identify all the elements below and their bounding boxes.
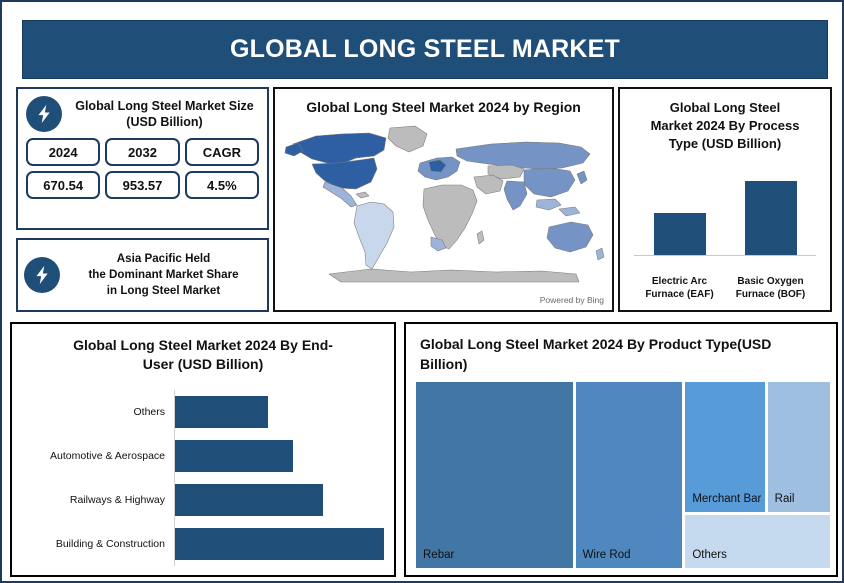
end-user-title-line2: User (USD Billion): [38, 355, 368, 374]
treemap-cell-rail: Rail: [768, 382, 830, 512]
end-user-row-railways: Railways & Highway: [24, 478, 384, 522]
lightning-bolt-icon: [26, 96, 62, 132]
treemap-label-wire-rod: Wire Rod: [576, 549, 631, 568]
end-user-track: [174, 390, 384, 434]
market-size-header-cagr: CAGR: [185, 138, 259, 166]
market-size-value-2024: 670.54: [26, 171, 100, 199]
treemap-row-top: Merchant Bar Rail: [685, 382, 830, 512]
label-eaf-line2: Furnace (EAF): [640, 288, 720, 301]
end-user-label-railways: Railways & Highway: [24, 494, 174, 507]
treemap-label-rebar: Rebar: [416, 549, 454, 568]
apac-callout-panel: Asia Pacific Held the Dominant Market Sh…: [16, 238, 269, 312]
bar-basic-oxygen-furnace: [745, 181, 797, 255]
process-type-title-line1: Global Long Steel: [630, 99, 820, 117]
process-type-panel: Global Long Steel Market 2024 By Process…: [618, 87, 832, 312]
bar-railways-highway: [175, 484, 323, 516]
process-type-axis: [634, 255, 816, 256]
header-banner: GLOBAL LONG STEEL MARKET: [22, 20, 828, 79]
market-size-value-cagr: 4.5%: [185, 171, 259, 199]
apac-callout-text: Asia Pacific Held the Dominant Market Sh…: [66, 251, 261, 299]
label-bof-line1: Basic Oxygen: [731, 275, 811, 288]
product-type-title-line2: Billion): [420, 354, 822, 374]
end-user-title-line1: Global Long Steel Market 2024 By End-: [38, 336, 368, 355]
bar-others: [175, 396, 268, 428]
treemap-cell-wire-rod: Wire Rod: [576, 382, 683, 568]
product-type-title-line1: Global Long Steel Market 2024 By Product…: [420, 334, 822, 354]
treemap-cell-rebar: Rebar: [416, 382, 573, 568]
process-type-title: Global Long Steel Market 2024 By Process…: [620, 89, 830, 153]
apac-line-3: in Long Steel Market: [66, 283, 261, 299]
end-user-title: Global Long Steel Market 2024 By End- Us…: [12, 324, 394, 374]
label-basic-oxygen-furnace: Basic Oxygen Furnace (BOF): [731, 275, 811, 301]
apac-callout-inner: Asia Pacific Held the Dominant Market Sh…: [18, 240, 267, 310]
market-size-header: Global Long Steel Market Size (USD Billi…: [18, 89, 267, 132]
end-user-label-automotive: Automotive & Aerospace: [24, 450, 174, 463]
bar-automotive-aerospace: [175, 440, 293, 472]
apac-line-1: Asia Pacific Held: [66, 251, 261, 267]
end-user-row-building: Building & Construction: [24, 522, 384, 566]
treemap-label-others: Others: [685, 549, 727, 568]
label-bof-line2: Furnace (BOF): [731, 288, 811, 301]
product-type-treemap: Rebar Wire Rod Merchant Bar Rail: [416, 382, 830, 568]
process-type-title-line3: Type (USD Billion): [630, 135, 820, 153]
infographic-frame: GLOBAL LONG STEEL MARKET Global Long Ste…: [0, 0, 844, 583]
treemap-label-merchant-bar: Merchant Bar: [685, 493, 761, 512]
end-user-track: [174, 522, 384, 566]
end-user-plot: Others Automotive & Aerospace Railways &…: [24, 390, 384, 566]
label-eaf-line1: Electric Arc: [640, 275, 720, 288]
process-type-labels: Electric Arc Furnace (EAF) Basic Oxygen …: [634, 275, 816, 301]
process-type-title-line2: Market 2024 By Process: [630, 117, 820, 135]
product-type-title: Global Long Steel Market 2024 By Product…: [406, 324, 836, 374]
end-user-track: [174, 434, 384, 478]
market-size-panel: Global Long Steel Market Size (USD Billi…: [16, 87, 269, 230]
end-user-track: [174, 478, 384, 522]
treemap-label-rail: Rail: [768, 493, 795, 512]
product-type-panel: Global Long Steel Market 2024 By Product…: [404, 322, 838, 577]
region-map-panel: Global Long Steel Market 2024 by Region: [273, 87, 614, 312]
market-size-value-2032: 953.57: [105, 171, 179, 199]
lightning-bolt-icon: [24, 257, 60, 293]
market-size-heading: Global Long Steel Market Size (USD Billi…: [69, 98, 260, 130]
treemap-cell-merchant-bar: Merchant Bar: [685, 382, 764, 512]
process-type-bars: [634, 181, 816, 255]
process-type-plot: [634, 181, 816, 271]
treemap-column-rebar: Rebar: [416, 382, 573, 568]
bar-building-construction: [175, 528, 384, 560]
treemap-cell-others: Others: [685, 515, 830, 568]
label-electric-arc-furnace: Electric Arc Furnace (EAF): [640, 275, 720, 301]
region-map-title: Global Long Steel Market 2024 by Region: [275, 89, 612, 115]
end-user-label-building: Building & Construction: [24, 538, 174, 551]
market-size-header-2024: 2024: [26, 138, 100, 166]
market-size-table: 2024 2032 CAGR 670.54 953.57 4.5%: [18, 132, 267, 207]
treemap-column-wire-rod: Wire Rod: [576, 382, 683, 568]
bar-electric-arc-furnace: [654, 213, 706, 255]
market-size-heading-line2: (USD Billion): [69, 114, 260, 130]
end-user-panel: Global Long Steel Market 2024 By End- Us…: [10, 322, 396, 577]
world-map: [281, 121, 606, 289]
treemap-column-right: Merchant Bar Rail Others: [685, 382, 830, 568]
market-size-header-2032: 2032: [105, 138, 179, 166]
apac-line-2: the Dominant Market Share: [66, 267, 261, 283]
end-user-row-automotive: Automotive & Aerospace: [24, 434, 384, 478]
bing-attribution: Powered by Bing: [540, 295, 604, 305]
page-title: GLOBAL LONG STEEL MARKET: [230, 35, 620, 64]
end-user-row-others: Others: [24, 390, 384, 434]
market-size-heading-line1: Global Long Steel Market Size: [69, 98, 260, 114]
end-user-label-others: Others: [24, 406, 174, 419]
